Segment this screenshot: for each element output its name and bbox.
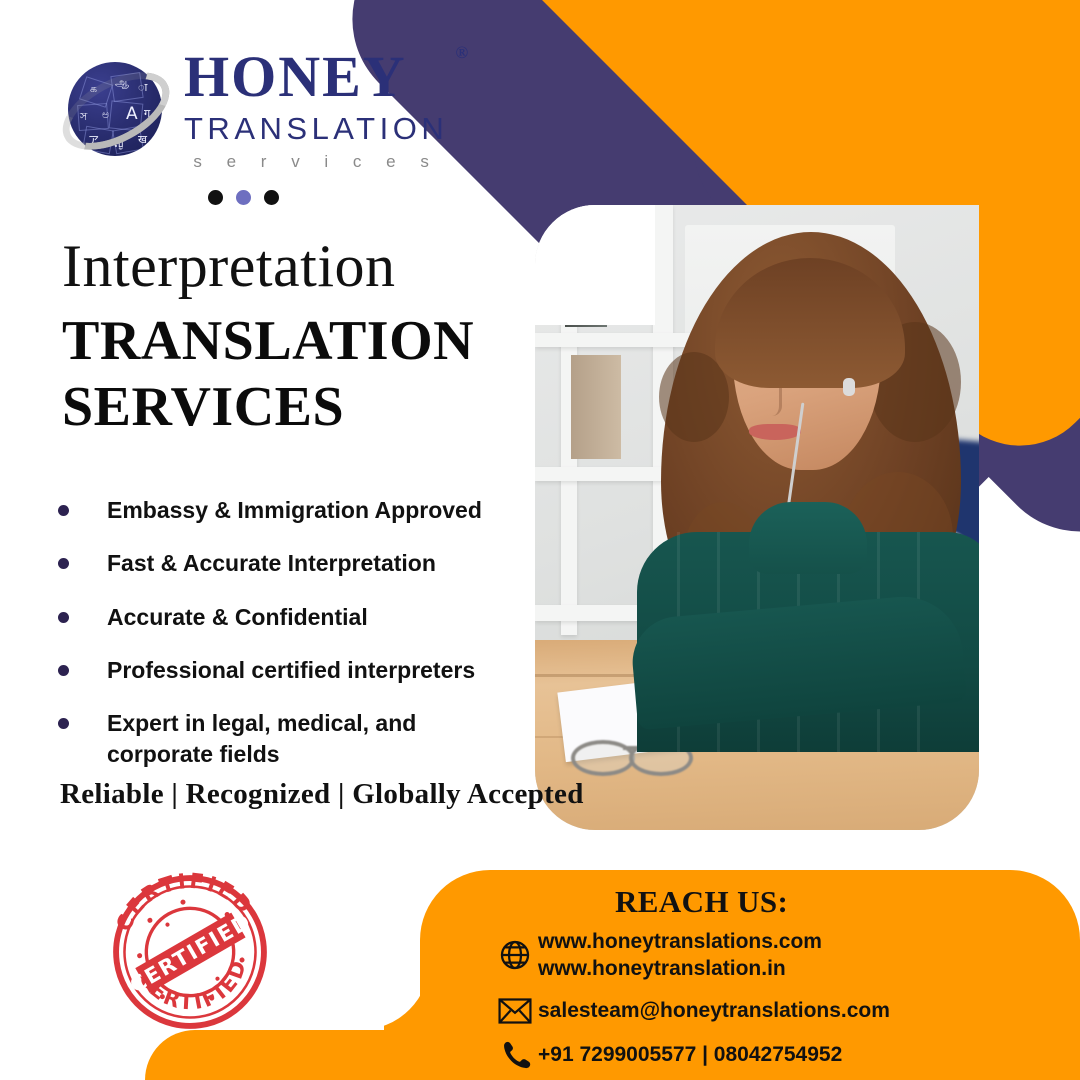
envelope-icon: [492, 997, 538, 1025]
list-item: Expert in legal, medical, and corporate …: [58, 708, 528, 771]
email-value: salesteam@honeytranslations.com: [538, 997, 890, 1024]
contact-row-phone[interactable]: +91 7299005577 | 08042754952: [492, 1039, 1052, 1071]
registered-trademark-icon: ®: [456, 44, 471, 61]
website-line-2: www.honeytranslation.in: [538, 955, 822, 982]
list-item: Embassy & Immigration Approved: [58, 495, 528, 526]
dot-middle: [236, 190, 251, 205]
earbud-icon: [843, 378, 855, 396]
footer-title: REACH US:: [615, 884, 788, 920]
logo-name-secondary: TRANSLATION: [184, 113, 448, 144]
photo-corner-notch: [535, 205, 655, 325]
list-item: Accurate & Confidential: [58, 602, 528, 633]
list-item: Fast & Accurate Interpretation: [58, 548, 528, 579]
list-item: Professional certified interpreters: [58, 655, 528, 686]
headline-main: TRANSLATION SERVICES: [62, 308, 474, 440]
list-item-label: Accurate & Confidential: [107, 602, 368, 633]
contact-row-email[interactable]: salesteam@honeytranslations.com: [492, 997, 1052, 1025]
headline-script: Interpretation: [62, 236, 474, 296]
headline-block: Interpretation TRANSLATION SERVICES: [62, 236, 474, 440]
globe-logo-icon: க ஆ ा স ಅ A ग ア ญ ख: [60, 54, 170, 164]
brand-logo: க ஆ ा স ಅ A ग ア ญ ख HONEY ® TRANSLATION …: [60, 48, 448, 170]
website-values: www.honeytranslations.com www.honeytrans…: [538, 928, 822, 983]
certified-stamp-icon: CERTIFIED CERTIFIED CERTIFIED: [95, 857, 285, 1047]
contact-row-website[interactable]: www.honeytranslations.com www.honeytrans…: [492, 928, 1052, 983]
headline-main-line-2: SERVICES: [62, 374, 474, 440]
phone-icon: [492, 1039, 538, 1071]
list-item-label: Fast & Accurate Interpretation: [107, 548, 436, 579]
turtleneck-collar: [749, 502, 867, 574]
logo-name-primary-text: HONEY: [184, 44, 407, 109]
dot-left: [208, 190, 223, 205]
interpreter-person: [643, 205, 973, 702]
lips: [749, 424, 801, 440]
tagline: Reliable | Recognized | Globally Accepte…: [60, 778, 584, 811]
decorative-dots: [208, 190, 279, 205]
bullet-dot-icon: [58, 665, 69, 676]
bullet-dot-icon: [58, 718, 69, 729]
logo-wordmark: HONEY ® TRANSLATION s e r v i c e s: [184, 48, 448, 170]
website-line-1: www.honeytranslations.com: [538, 928, 822, 955]
eyeglass-bridge: [623, 746, 637, 750]
dot-right: [264, 190, 279, 205]
list-item-label: Expert in legal, medical, and corporate …: [107, 708, 447, 771]
book: [571, 355, 621, 459]
hero-photo: [535, 205, 979, 830]
logo-name-primary: HONEY ®: [184, 48, 448, 106]
bullet-dot-icon: [58, 505, 69, 516]
list-item-label: Embassy & Immigration Approved: [107, 495, 482, 526]
poster-canvas: க ஆ ा স ಅ A ग ア ญ ख HONEY ® TRANSLATION …: [0, 0, 1080, 1080]
list-item-label: Professional certified interpreters: [107, 655, 475, 686]
globe-icon: [492, 938, 538, 972]
contact-list: www.honeytranslations.com www.honeytrans…: [492, 928, 1052, 1080]
feature-list: Embassy & Immigration Approved Fast & Ac…: [58, 495, 528, 793]
globe-glyph: ख: [138, 132, 147, 147]
bullet-dot-icon: [58, 612, 69, 623]
phone-value: +91 7299005577 | 08042754952: [538, 1041, 842, 1068]
bullet-dot-icon: [58, 558, 69, 569]
logo-name-tertiary: s e r v i c e s: [184, 153, 448, 170]
headline-main-line-1: TRANSLATION: [62, 308, 474, 374]
